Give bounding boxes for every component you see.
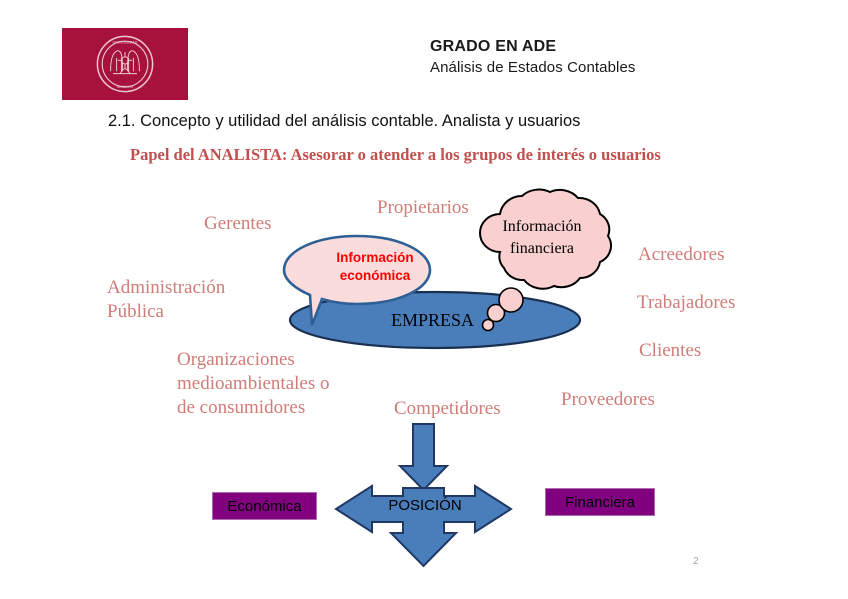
thought-bubble-small-2 <box>488 305 505 322</box>
posicion-label: POSICIÓN <box>385 497 465 514</box>
informacion-financiera-label: Información financiera <box>486 216 598 259</box>
empresa-label: EMPRESA <box>391 310 474 331</box>
university-logo-block: UNIVERSIDAD SIGILLVM <box>62 28 188 100</box>
thought-bubble-small-1 <box>483 320 494 331</box>
stakeholder-organizaciones-line2: medioambientales o <box>177 372 329 396</box>
header-text-block: GRADO EN ADE Análisis de Estados Contabl… <box>430 36 636 78</box>
section-title: 2.1. Concepto y utilidad del análisis co… <box>108 112 580 131</box>
page-number: 2 <box>693 556 699 567</box>
stakeholder-administracion-publica-line1: Administración <box>107 276 225 300</box>
svg-text:UNIVERSIDAD: UNIVERSIDAD <box>113 41 138 45</box>
box-economica: Económica <box>212 492 317 520</box>
stakeholder-propietarios: Propietarios <box>377 196 469 220</box>
stakeholder-acreedores: Acreedores <box>638 243 725 267</box>
stakeholder-trabajadores: Trabajadores <box>637 291 736 315</box>
info-economica-line2: económica <box>321 267 429 285</box>
university-seal-icon: UNIVERSIDAD SIGILLVM <box>95 34 155 94</box>
stakeholder-organizaciones-line1: Organizaciones <box>177 348 295 372</box>
down-arrow-top <box>400 424 447 490</box>
header-subtitle: Análisis de Estados Contables <box>430 58 636 78</box>
info-economica-line1: Información <box>321 249 429 267</box>
header-title: GRADO EN ADE <box>430 36 636 58</box>
info-financiera-line1: Información <box>486 216 598 238</box>
informacion-economica-label: Información económica <box>321 249 429 284</box>
box-financiera: Financiera <box>545 488 655 516</box>
stakeholder-administracion-publica-line2: Pública <box>107 300 164 324</box>
slide-canvas: UNIVERSIDAD SIGILLVM GRADO EN ADE Anális… <box>0 0 848 599</box>
thought-bubble-small-3 <box>499 288 523 312</box>
stakeholder-proveedores: Proveedores <box>561 388 655 412</box>
info-financiera-line2: financiera <box>486 238 598 260</box>
stakeholder-organizaciones-line3: de consumidores <box>177 396 305 420</box>
analyst-role-subtitle: Papel del ANALISTA: Asesorar o atender a… <box>130 145 661 165</box>
stakeholder-competidores: Competidores <box>394 397 501 421</box>
svg-text:SIGILLVM: SIGILLVM <box>117 85 133 89</box>
stakeholder-gerentes: Gerentes <box>204 212 272 236</box>
stakeholder-clientes: Clientes <box>639 339 701 363</box>
